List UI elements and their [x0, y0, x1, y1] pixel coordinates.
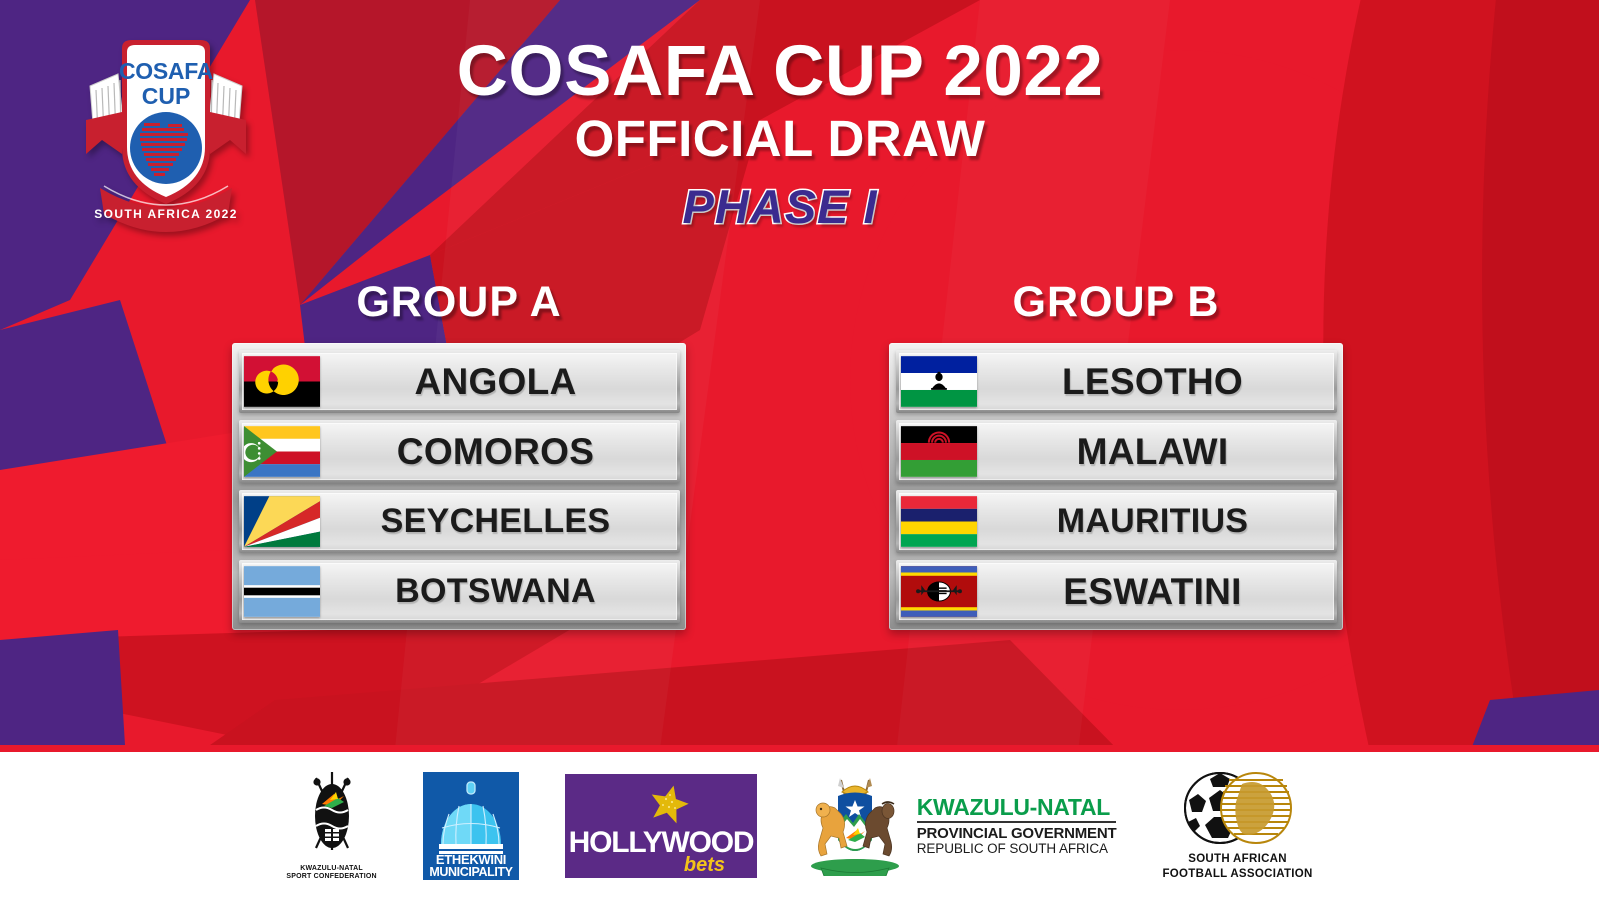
- team-row[interactable]: ANGOLA: [239, 350, 680, 413]
- cosafa-cup-logo: COSAFA CUP SOUTH AFRICA 2022: [78, 28, 254, 238]
- sponsor-ethekwini-municipality: ETHEKWINI MUNICIPALITY: [423, 772, 519, 880]
- page-subtitle: OFFICIAL DRAW: [380, 110, 1180, 169]
- team-row[interactable]: COMOROS: [239, 420, 680, 483]
- team-name: LESOTHO: [977, 361, 1334, 403]
- page-title: COSAFA CUP 2022: [380, 36, 1180, 108]
- sponsor-kzn-provincial-government: KWAZULU-NATAL PROVINCIAL GOVERNMENT REPU…: [803, 776, 1117, 876]
- group-b-section: GROUP B: [889, 278, 1343, 630]
- team-row[interactable]: MAURITIUS: [896, 490, 1337, 553]
- svg-text:SOUTH AFRICA 2022: SOUTH AFRICA 2022: [94, 207, 238, 221]
- group-b-heading: GROUP B: [889, 278, 1343, 327]
- team-name: SEYCHELLES: [320, 502, 677, 541]
- svg-text:COSAFA: COSAFA: [119, 58, 213, 84]
- cosafa-draw-graphic: COSAFA CUP SOUTH AFRICA 2022: [0, 0, 1599, 899]
- group-a-panel: ANGOLA: [232, 343, 686, 630]
- group-a-heading: GROUP A: [232, 278, 686, 327]
- group-b-panel: LESOTHO: [889, 343, 1343, 630]
- team-name: ESWATINI: [977, 571, 1334, 613]
- comoros-flag: [244, 426, 320, 477]
- sponsor-label-line1: KWAZULU-NATAL: [286, 865, 376, 873]
- team-row[interactable]: SEYCHELLES: [239, 490, 680, 553]
- mauritius-flag: [901, 496, 977, 547]
- seychelles-flag: [244, 496, 320, 547]
- sponsor-hollywoodbets: HOLLYWOOD bets: [565, 774, 757, 878]
- team-row[interactable]: MALAWI: [896, 420, 1337, 483]
- sponsor-label-line2: bets: [684, 854, 725, 876]
- group-a-section: GROUP A A: [232, 278, 686, 630]
- kzn-shield-icon: [300, 770, 364, 862]
- sponsor-south-african-football-association: SOUTH AFRICAN FOOTBALL ASSOCIATION: [1162, 770, 1312, 881]
- sponsor-footer: KWAZULU-NATAL SPORT CONFEDERATION: [0, 752, 1599, 899]
- team-name: COMOROS: [320, 431, 677, 473]
- team-name: BOTSWANA: [320, 572, 677, 611]
- team-row[interactable]: ESWATINI: [896, 560, 1337, 623]
- sponsor-label-line1: HOLLYWOOD: [568, 826, 753, 859]
- eswatini-flag: [901, 566, 977, 617]
- angola-flag: [244, 356, 320, 407]
- ethekwini-dome-icon: ETHEKWINI MUNICIPALITY: [423, 772, 519, 880]
- team-name: MALAWI: [977, 431, 1334, 473]
- sponsor-label-line2: SPORT CONFEDERATION: [286, 873, 376, 881]
- team-row[interactable]: BOTSWANA: [239, 560, 680, 623]
- sponsor-label-line2: PROVINCIAL GOVERNMENT: [917, 826, 1117, 842]
- title-block: COSAFA CUP 2022 OFFICIAL DRAW PHASE I: [380, 36, 1180, 234]
- lesotho-flag: [901, 356, 977, 407]
- divider: [917, 821, 1117, 823]
- safa-ball-map-icon: [1184, 770, 1292, 848]
- sponsor-label-line3: REPUBLIC OF SOUTH AFRICA: [917, 842, 1117, 856]
- sponsor-kzn-sport-confederation: KWAZULU-NATAL SPORT CONFEDERATION: [286, 770, 376, 881]
- sponsor-label-line2: MUNICIPALITY: [429, 865, 513, 879]
- team-name: MAURITIUS: [977, 502, 1334, 541]
- malawi-flag: [901, 426, 977, 477]
- sponsor-label-line1: SOUTH AFRICAN: [1162, 852, 1312, 866]
- hollywoodbets-logo: HOLLYWOOD bets: [565, 774, 757, 878]
- phase-label: PHASE I: [380, 179, 1180, 234]
- botswana-flag: [244, 566, 320, 617]
- kzn-coat-of-arms-icon: [803, 776, 907, 876]
- svg-text:CUP: CUP: [142, 83, 191, 109]
- sponsor-label-line1: KWAZULU-NATAL: [917, 795, 1117, 819]
- team-name: ANGOLA: [320, 361, 677, 403]
- sponsor-label-line2: FOOTBALL ASSOCIATION: [1162, 867, 1312, 881]
- team-row[interactable]: LESOTHO: [896, 350, 1337, 413]
